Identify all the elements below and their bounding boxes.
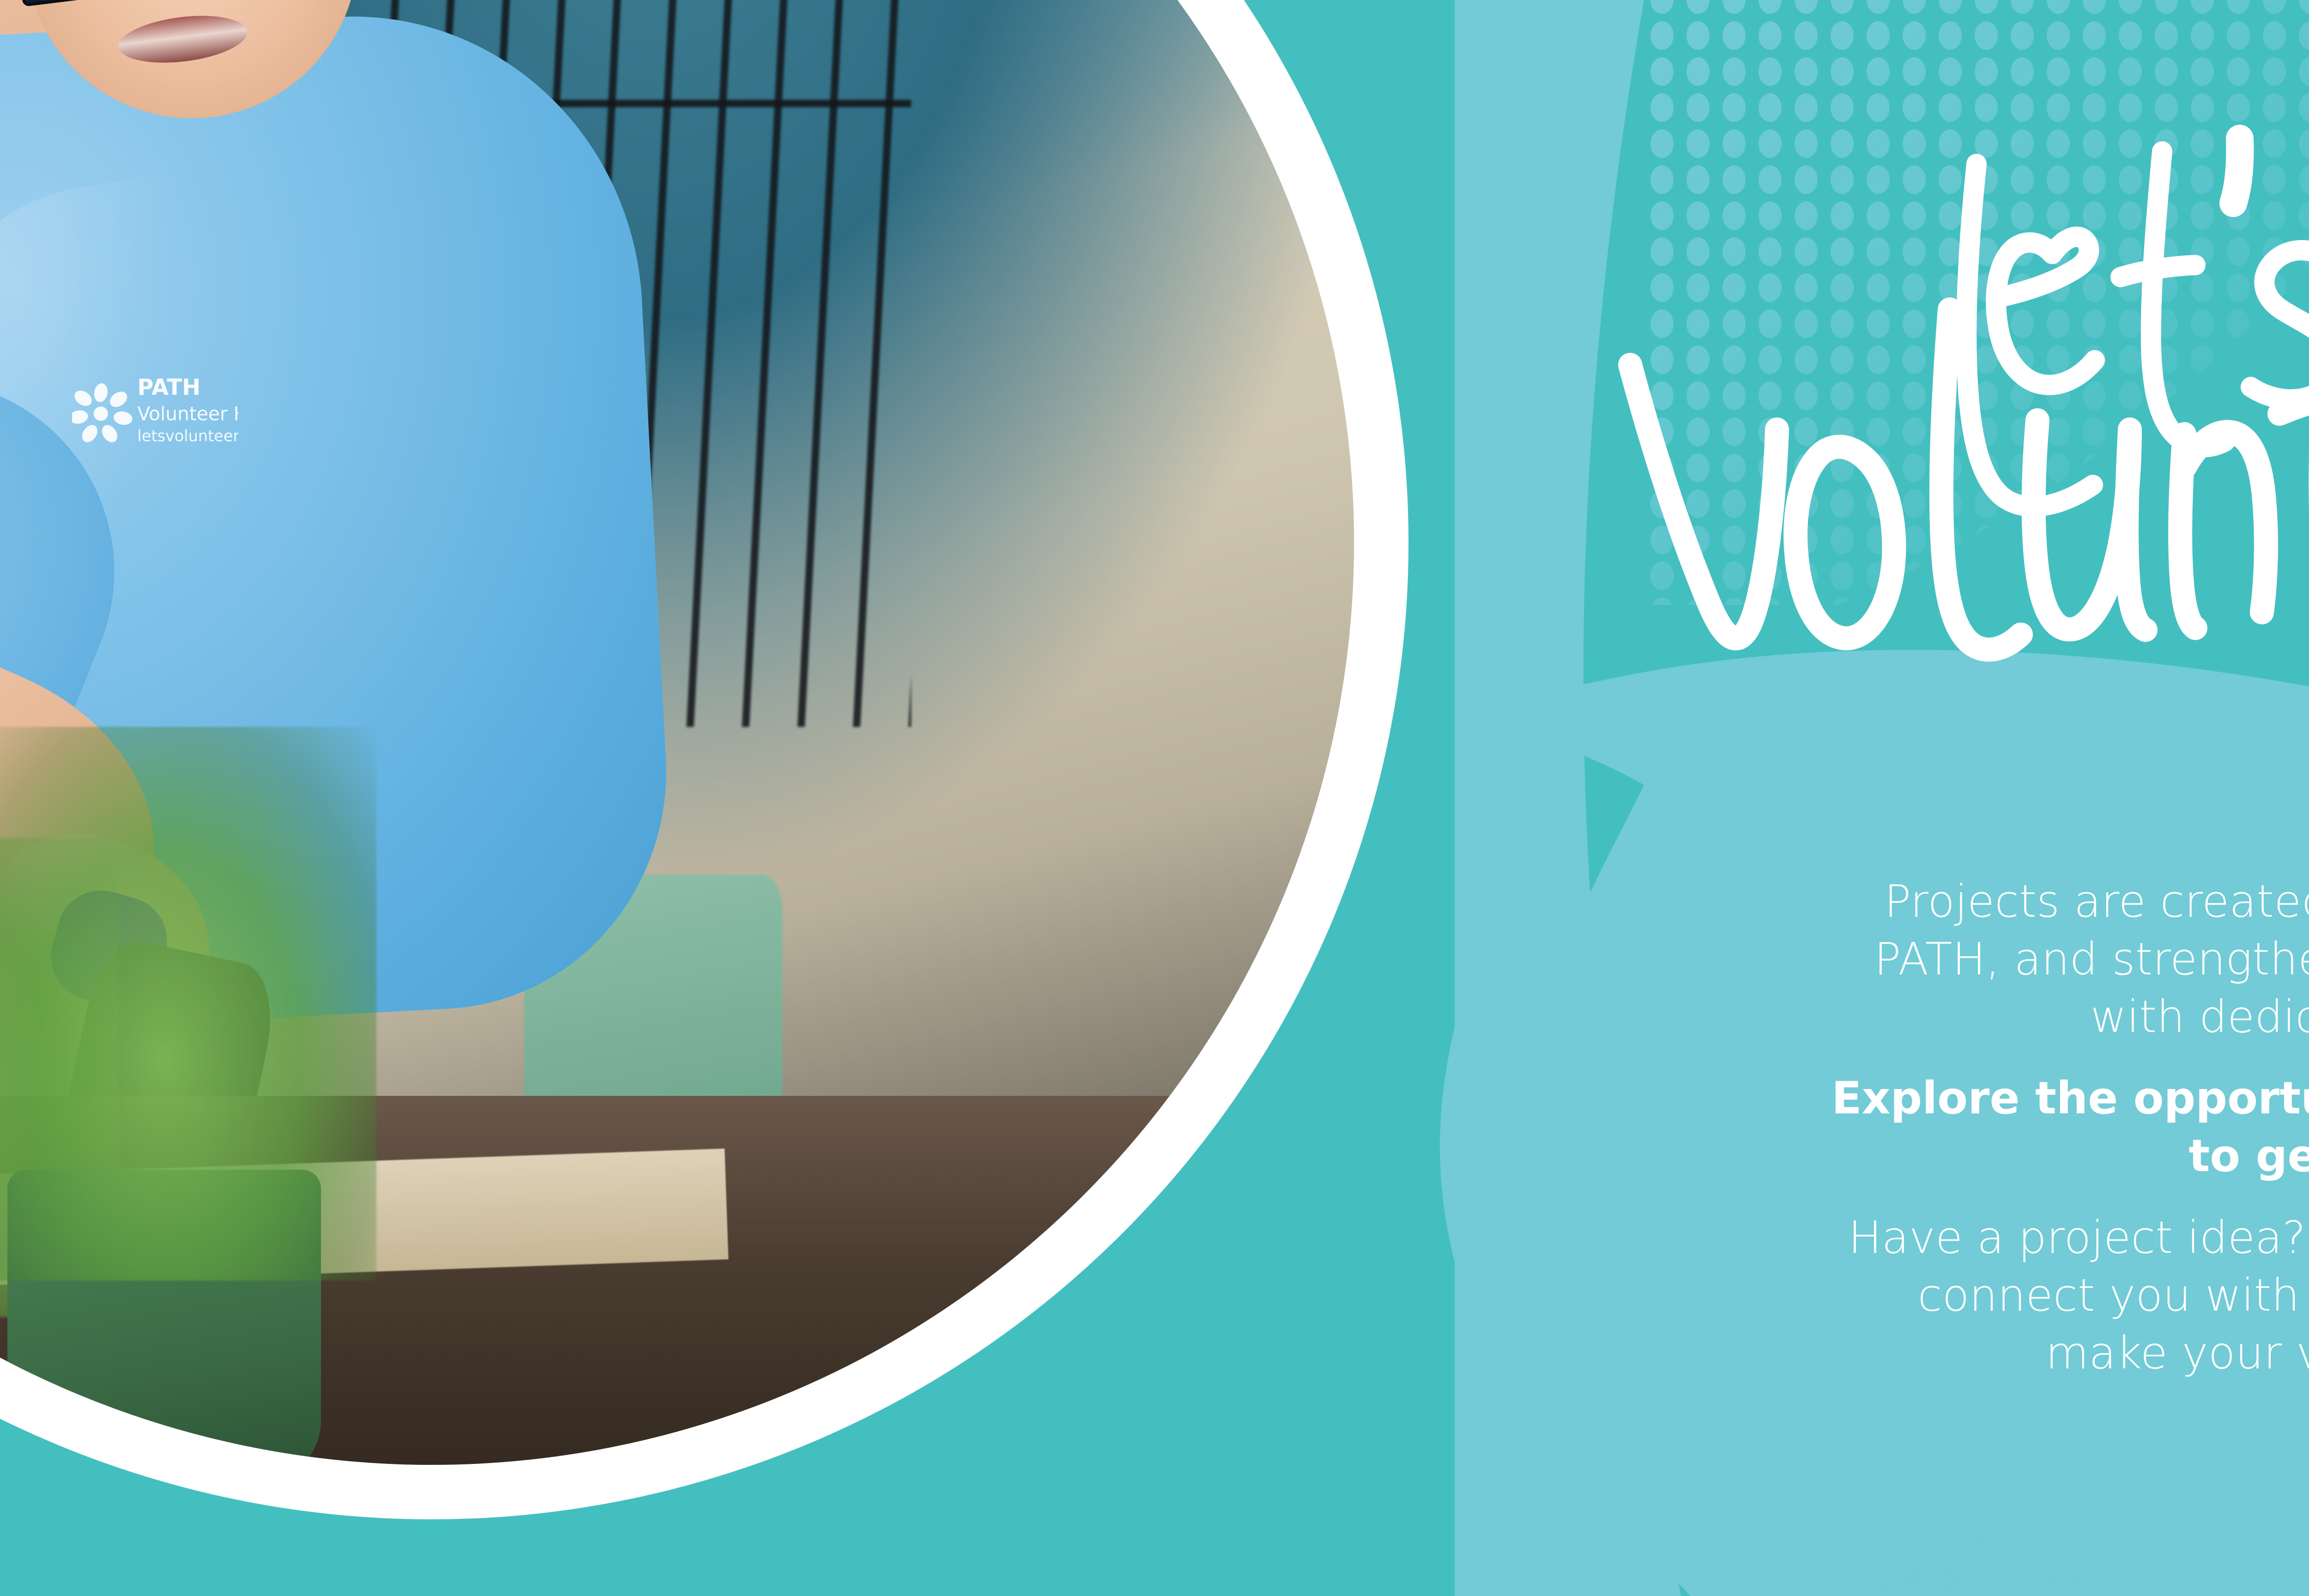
paragraph-intro: Projects are created by nonprofits, fund… xyxy=(1699,873,2309,1046)
paragraph-callout-line-1: Explore the opportunities below and sign… xyxy=(1699,1070,2309,1127)
paragraph-idea-line-3: make your vision into a reality. xyxy=(1699,1324,2309,1382)
paragraph-intro-line-3: with dedicated volunteers. xyxy=(1699,988,2309,1046)
paragraph-idea: Have a project idea? Bring it to us and … xyxy=(1699,1209,2309,1382)
starburst-flower-icon xyxy=(72,382,133,445)
volunteer-promo-banner: PATH Volunteer Hub letsvolunteer.org xyxy=(0,0,2309,1596)
svg-text:Volunteer Hub: Volunteer Hub xyxy=(138,403,238,425)
paragraph-callout-line-2: to get involved! xyxy=(1699,1127,2309,1185)
headline-lettering xyxy=(1561,69,2309,679)
body-copy: Projects are created by nonprofits, fund… xyxy=(1699,873,2309,1382)
paragraph-idea-line-1: Have a project idea? Bring it to us and … xyxy=(1699,1209,2309,1267)
svg-text:PATH: PATH xyxy=(138,375,201,400)
shirt-logo: PATH Volunteer Hub letsvolunteer.org xyxy=(72,368,238,460)
svg-text:letsvolunteer.org: letsvolunteer.org xyxy=(138,427,238,445)
paragraph-idea-line-2: connect you with an organization that ca… xyxy=(1699,1267,2309,1324)
paragraph-intro-line-2: PATH, and strengthened through collabora… xyxy=(1699,931,2309,988)
paragraph-intro-line-1: Projects are created by nonprofits, fund… xyxy=(1699,873,2309,931)
banner-content: Projects are created by nonprofits, fund… xyxy=(1561,0,2309,1596)
rosemary-plant-front xyxy=(0,727,376,1280)
paragraph-callout: Explore the opportunities below and sign… xyxy=(1699,1070,2309,1185)
volunteer-photo: PATH Volunteer Hub letsvolunteer.org xyxy=(0,0,1354,1465)
white-circular-border: PATH Volunteer Hub letsvolunteer.org xyxy=(0,0,1408,1519)
